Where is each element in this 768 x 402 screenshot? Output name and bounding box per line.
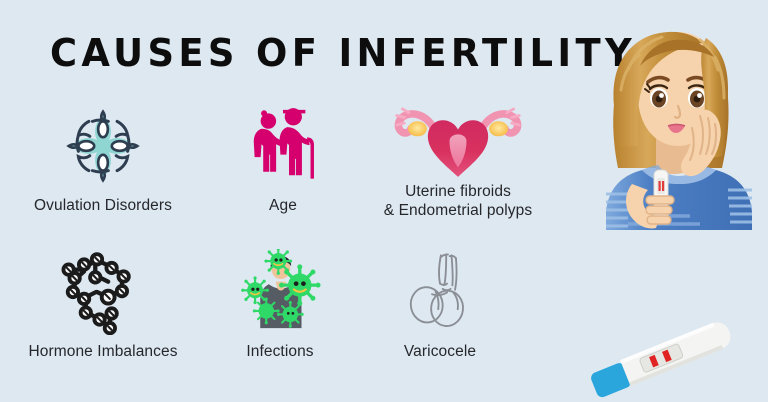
- infographic-canvas: CAUSES OF INFERTILITY: [0, 0, 768, 402]
- worried-woman-illustration: [588, 18, 768, 230]
- cause-label-varicocele: Varicocele: [370, 342, 510, 361]
- icon-container: [210, 248, 350, 336]
- pregnancy-test-svg: [578, 300, 768, 402]
- icon-container: [213, 102, 353, 190]
- varicocele-testicles-icon: [399, 250, 481, 334]
- page-title: CAUSES OF INFERTILITY: [50, 30, 535, 76]
- cause-item-hormone-imbalances: Hormone Imbalances: [13, 248, 193, 361]
- ovulation-fertilization-icon: [57, 102, 149, 190]
- icon-container: [368, 102, 548, 180]
- cause-item-infections: Infections: [210, 248, 350, 361]
- cause-label-hormone-imbalances: Hormone Imbalances: [13, 342, 193, 361]
- cause-item-age: Age: [213, 102, 353, 215]
- woman-svg: [588, 18, 768, 230]
- virus-infection-person-icon: [234, 249, 326, 335]
- cause-label-uterine-fibroids: Uterine fibroids & Endometrial polyps: [368, 182, 548, 220]
- icon-container: [13, 102, 193, 190]
- pregnancy-test-stick: [578, 300, 768, 402]
- elderly-couple-icon: [240, 103, 326, 189]
- icon-container: [13, 248, 193, 336]
- cause-label-infections: Infections: [210, 342, 350, 361]
- uterus-icon: [392, 103, 524, 179]
- icon-container: [370, 248, 510, 336]
- gripping-fingers: [646, 196, 674, 224]
- cause-label-ovulation-disorders: Ovulation Disorders: [13, 196, 193, 215]
- hormone-molecule-icon: [60, 249, 146, 335]
- cause-item-ovulation-disorders: Ovulation Disorders: [13, 102, 193, 215]
- cause-label-line-2: & Endometrial polyps: [368, 201, 548, 220]
- cause-label-line-1: Uterine fibroids: [368, 182, 548, 201]
- cause-item-uterine-fibroids: Uterine fibroids & Endometrial polyps: [368, 102, 548, 220]
- cause-label-age: Age: [213, 196, 353, 215]
- cause-item-varicocele: Varicocele: [370, 248, 510, 361]
